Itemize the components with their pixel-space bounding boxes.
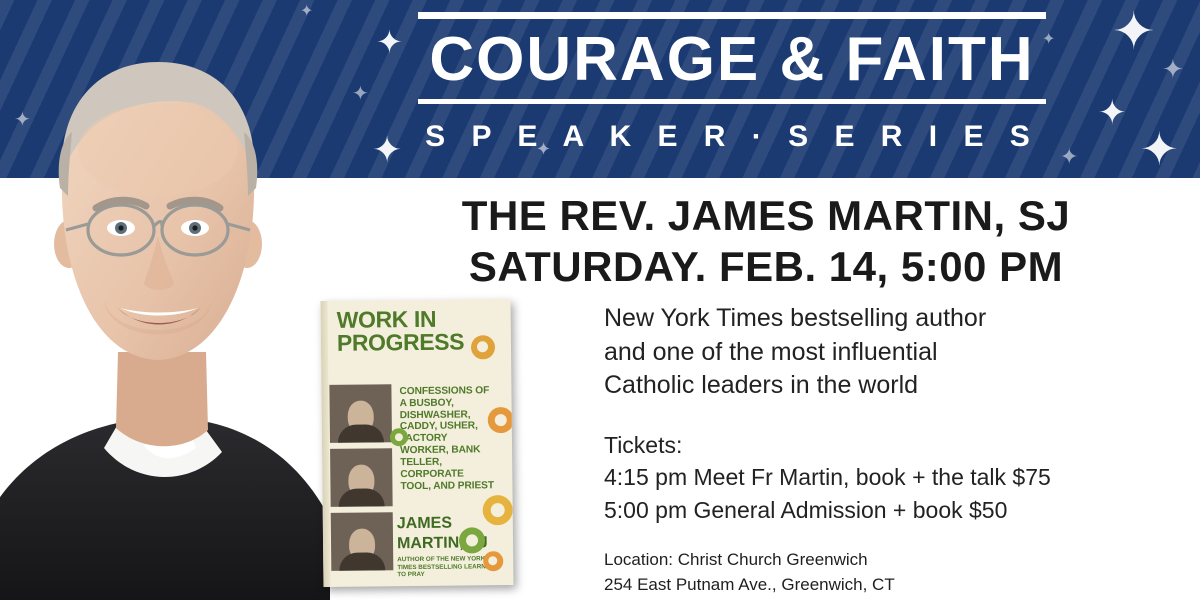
blurb-line-3: Catholic leaders in the world	[604, 369, 1184, 403]
location-block: Location: Christ Church Greenwich 254 Ea…	[604, 548, 1184, 597]
blurb: New York Times bestselling author and on…	[604, 302, 1184, 403]
flower-icon	[495, 414, 507, 426]
tickets-block: Tickets: 4:15 pm Meet Fr Martin, book + …	[604, 429, 1184, 527]
headline-speaker: THE REV. JAMES MARTIN, SJ	[332, 190, 1200, 241]
book-cover-content: WORK IN PROGRESS CONFESSIONS OF A BUSBOY…	[321, 299, 514, 587]
flower-icon	[488, 556, 497, 565]
book-cover: WORK IN PROGRESS CONFESSIONS OF A BUSBOY…	[321, 299, 514, 587]
title-rule-top	[418, 12, 1046, 19]
book-photo	[330, 448, 393, 507]
flower-icon	[466, 534, 478, 546]
star-icon: ✦	[1098, 96, 1127, 130]
banner-title-block: COURAGE & FAITH S P E A K E R · S E R I …	[418, 12, 1046, 154]
star-icon: ✦	[1162, 56, 1184, 82]
star-icon: ✦	[1140, 126, 1179, 172]
book-subtitle: CONFESSIONS OF A BUSBOY, DISHWASHER, CAD…	[399, 385, 496, 492]
book-photo	[329, 384, 392, 443]
flower-icon	[477, 341, 488, 352]
star-icon: ✦	[372, 132, 402, 168]
portrait-photo	[0, 0, 330, 600]
flower-icon	[395, 433, 403, 441]
ticket-option-meet-and-greet: 4:15 pm Meet Fr Martin, book + the talk …	[604, 461, 1184, 494]
star-icon: ✦	[1112, 6, 1156, 58]
book-author-line-2: MARTIN, SJ	[397, 535, 501, 553]
location-address: 254 East Putnam Ave., Greenwich, CT	[604, 573, 1184, 598]
star-icon: ✦	[1060, 146, 1078, 168]
star-icon: ✦	[352, 84, 369, 104]
tickets-label: Tickets:	[604, 429, 1184, 462]
event-poster: ✦ ✦ ✦ ✦ ✦ ✦ ✦ ✦ ✦ ✦ ✦ ✦ COURAGE & FAITH …	[0, 0, 1200, 600]
ticket-option-general-admission: 5:00 pm General Admission + book $50	[604, 494, 1184, 527]
location-venue: Location: Christ Church Greenwich	[604, 548, 1184, 573]
headline-date: SATURDAY. FEB. 14, 5:00 PM	[332, 241, 1200, 292]
title-rule-bottom	[418, 99, 1046, 104]
details-column: New York Times bestselling author and on…	[604, 302, 1184, 598]
blurb-line-1: New York Times bestselling author	[604, 302, 1184, 336]
book-photo	[331, 512, 394, 571]
flower-icon	[491, 503, 505, 517]
headline-block: THE REV. JAMES MARTIN, SJ SATURDAY. FEB.…	[332, 190, 1200, 292]
poster-title: COURAGE & FAITH	[418, 28, 1046, 91]
poster-subtitle: S P E A K E R · S E R I E S	[418, 120, 1046, 154]
blurb-line-2: and one of the most influential	[604, 336, 1184, 370]
star-icon: ✦	[376, 26, 403, 58]
book-photo-strip	[329, 384, 393, 577]
